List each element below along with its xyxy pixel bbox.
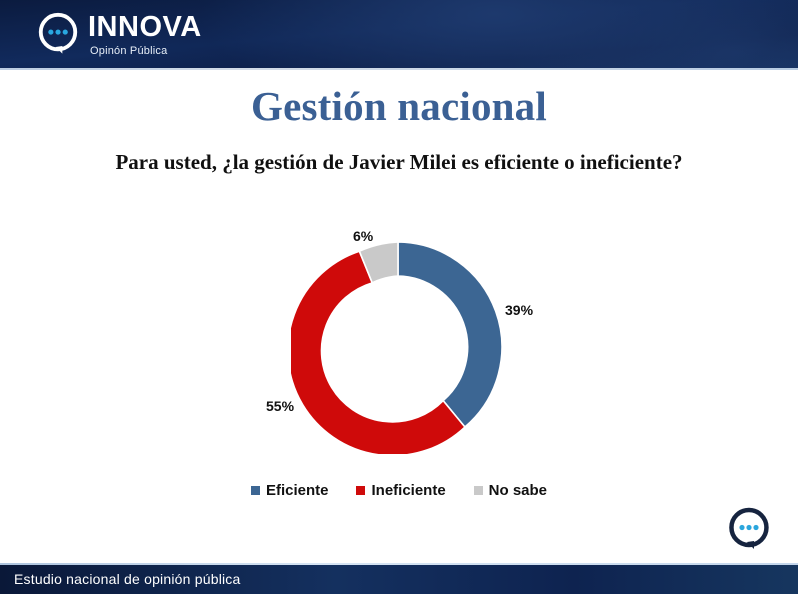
page-title: Gestión nacional	[0, 82, 798, 130]
legend-label-eficiente: Eficiente	[266, 482, 329, 499]
survey-question: Para usted, ¿la gestión de Javier Milei …	[0, 150, 798, 175]
legend-swatch-ineficiente	[356, 486, 365, 495]
header-divider	[0, 68, 798, 70]
brand-name: INNOVA	[88, 12, 202, 42]
data-label-no-sabe: 6%	[353, 228, 373, 244]
data-label-ineficiente: 55%	[266, 398, 294, 414]
donut-chart: 6% 39% 55%	[0, 210, 798, 480]
corner-speech-bubble-dots-icon	[726, 505, 774, 553]
brand-logo: INNOVA Opinón Pública	[36, 11, 202, 58]
legend-swatch-eficiente	[251, 486, 260, 495]
legend-label-no-sabe: No sabe	[489, 482, 547, 499]
brand-tagline: Opinón Pública	[90, 44, 202, 58]
legend-swatch-no-sabe	[474, 486, 483, 495]
legend-item-ineficiente[interactable]: Ineficiente	[356, 482, 445, 499]
legend-item-no-sabe[interactable]: No sabe	[474, 482, 547, 499]
legend-item-eficiente[interactable]: Eficiente	[251, 482, 329, 499]
donut-slice-eficiente	[398, 242, 502, 427]
header-band: INNOVA Opinón Pública	[0, 0, 798, 70]
data-label-eficiente: 39%	[505, 302, 533, 318]
speech-bubble-dots-icon	[36, 11, 82, 57]
footer-text: Estudio nacional de opinión pública	[14, 571, 241, 587]
chart-legend: Eficiente Ineficiente No sabe	[0, 482, 798, 499]
legend-label-ineficiente: Ineficiente	[371, 482, 445, 499]
donut-chart-svg	[291, 240, 505, 454]
